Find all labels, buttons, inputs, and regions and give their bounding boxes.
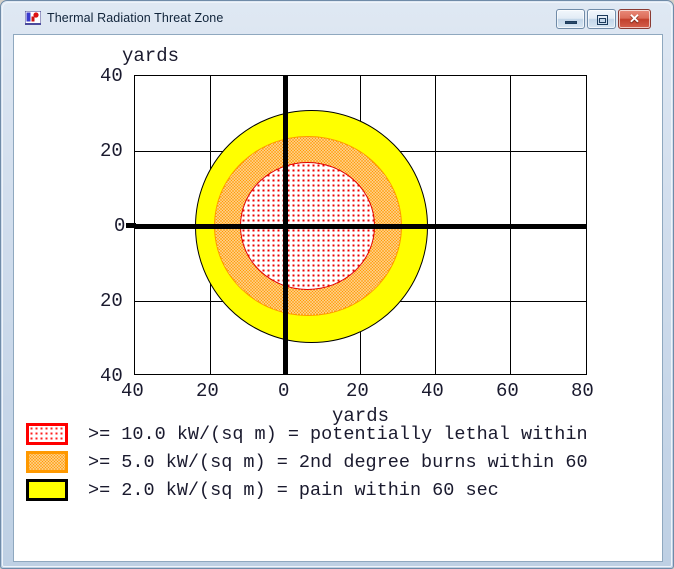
x-tick-label-40: 40	[421, 380, 444, 402]
aloha-app-icon	[25, 11, 41, 26]
origin-horizontal-axis	[134, 224, 586, 229]
legend-label: >= 5.0 kW/(sq m) = 2nd degree burns with…	[88, 452, 588, 473]
window-title: Thermal Radiation Threat Zone	[47, 11, 223, 25]
client-area: yards 40 20 0 20 40	[13, 34, 663, 562]
x-tick-label-20: 20	[346, 380, 369, 402]
y-tick-label-0: 0	[114, 215, 125, 237]
window-controls: ✕	[556, 9, 651, 29]
application-window: Thermal Radiation Threat Zone ✕ yards 40…	[0, 0, 674, 569]
legend-label: >= 2.0 kW/(sq m) = pain within 60 sec	[88, 480, 499, 501]
red-dotted-swatch	[26, 423, 68, 445]
x-tick-label--40: 40	[121, 380, 144, 402]
plot-area	[134, 75, 587, 375]
maximize-button[interactable]	[587, 9, 616, 29]
orange-dotted-swatch	[26, 451, 68, 473]
minimize-icon	[565, 21, 577, 24]
y-tick-label-40-top: 40	[100, 65, 123, 87]
legend-row: >= 10.0 kW/(sq m) = potentially lethal w…	[22, 420, 662, 448]
legend-row: >= 2.0 kW/(sq m) = pain within 60 sec	[22, 476, 662, 504]
legend: >= 10.0 kW/(sq m) = potentially lethal w…	[22, 420, 662, 504]
origin-horizontal-axis-extension	[126, 223, 136, 228]
threat-zone-chart: yards 40 20 0 20 40	[14, 35, 663, 562]
close-button[interactable]: ✕	[618, 9, 651, 29]
close-icon: ✕	[619, 10, 650, 28]
yellow-solid-swatch	[26, 479, 68, 501]
legend-label: >= 10.0 kW/(sq m) = potentially lethal w…	[88, 424, 588, 445]
title-bar[interactable]: Thermal Radiation Threat Zone ✕	[4, 3, 670, 30]
x-tick-label-60: 60	[496, 380, 519, 402]
x-tick-label-80: 80	[571, 380, 594, 402]
y-axis-label: yards	[122, 45, 179, 67]
y-tick-label-20-bottom: 20	[100, 290, 123, 312]
legend-row: >= 5.0 kW/(sq m) = 2nd degree burns with…	[22, 448, 662, 476]
maximize-icon-inner	[599, 18, 606, 23]
x-tick-label-0: 0	[278, 380, 289, 402]
x-tick-label--20: 20	[196, 380, 219, 402]
minimize-button[interactable]	[556, 9, 585, 29]
y-tick-label-20-top: 20	[100, 140, 123, 162]
y-tick-label-40-bottom: 40	[100, 365, 123, 387]
